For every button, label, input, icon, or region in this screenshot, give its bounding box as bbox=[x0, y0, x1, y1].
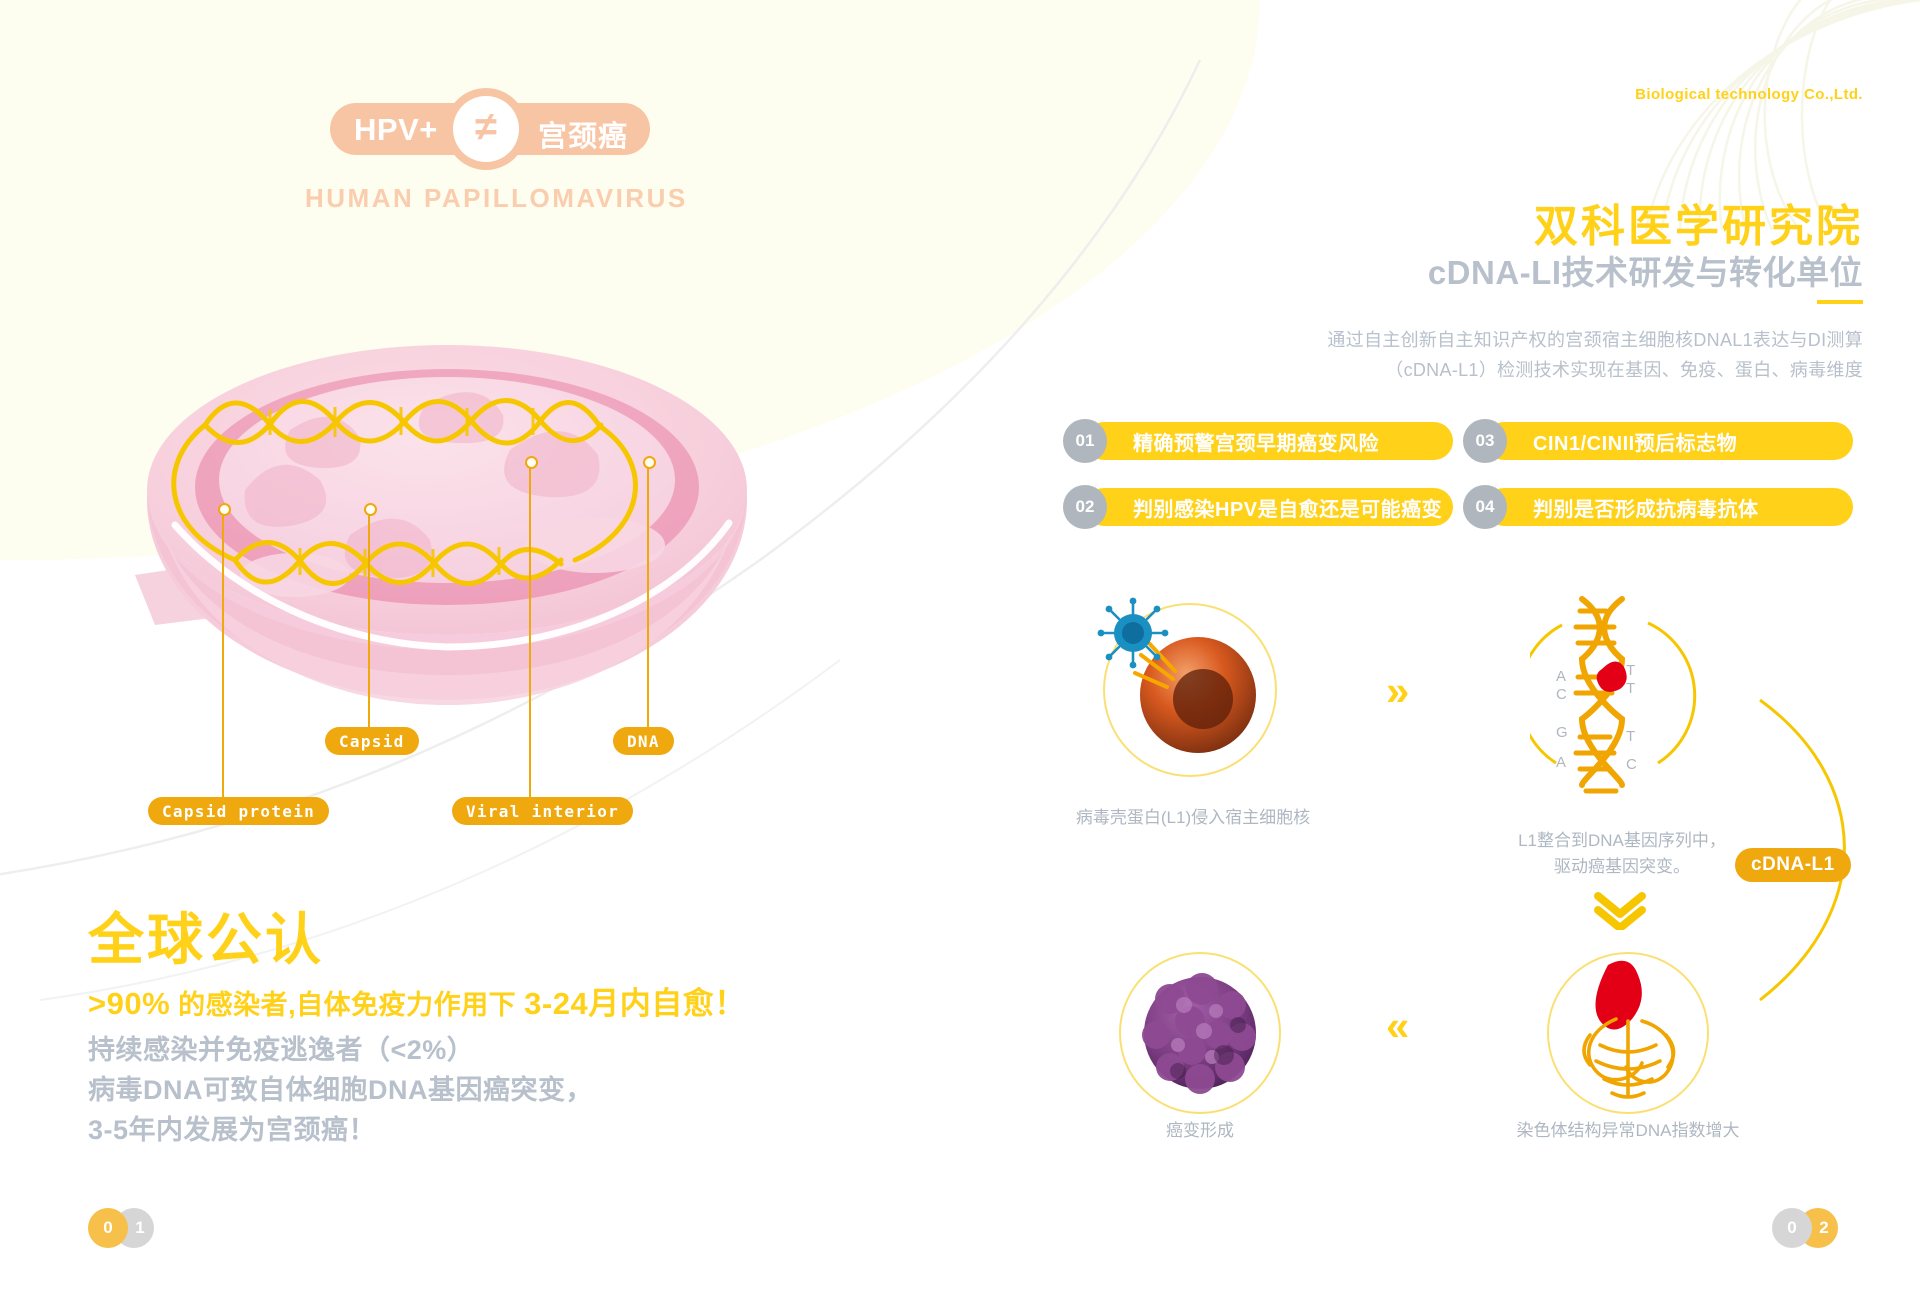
global-recognition-paragraph: 持续感染并免疫逃逸者（<2%） 病毒DNA可致自体细胞DNA基因癌突变， 3-5… bbox=[88, 1030, 593, 1150]
page-number-right-first: 0 bbox=[1772, 1208, 1812, 1248]
dna-base-left-1: C bbox=[1556, 686, 1567, 703]
institute-subtitle: cDNA-LI技术研发与转化单位 bbox=[1428, 246, 1863, 294]
leader-dot-capsid-protein bbox=[218, 503, 231, 516]
description-line-2: （cDNA-L1）检测技术实现在基因、免疫、蛋白、病毒维度 bbox=[1327, 355, 1863, 385]
description-line-1: 通过自主创新自主知识产权的宫颈宿主细胞核DNAL1表达与DI测算 bbox=[1327, 325, 1863, 355]
dna-base-left-3: A bbox=[1556, 754, 1566, 771]
step4-tumor-illustration bbox=[1112, 945, 1287, 1120]
not-equal-icon: ≠ bbox=[445, 88, 527, 170]
page-number-left: 1 0 bbox=[88, 1208, 184, 1248]
paragraph-line-3: 3-5年内发展为宫颈癌！ bbox=[88, 1110, 593, 1150]
leader-line-dna bbox=[647, 465, 649, 727]
step3-chromosome-illustration bbox=[1538, 945, 1718, 1120]
feature-pill-01-label: 精确预警宫颈早期癌变风险 bbox=[1133, 422, 1379, 460]
callout-dna: DNA bbox=[613, 727, 674, 755]
feature-pill-04-number: 04 bbox=[1463, 485, 1507, 529]
global-recognition-title: 全球公认 bbox=[88, 895, 324, 976]
header-subtitle: HUMAN PAPILLOMAVIRUS bbox=[305, 183, 688, 214]
dna-base-left-2: G bbox=[1556, 724, 1568, 741]
dna-base-left-0: A bbox=[1556, 668, 1566, 685]
not-equal-glyph: ≠ bbox=[453, 94, 519, 160]
callout-capsid-protein: Capsid protein bbox=[148, 797, 329, 825]
feature-pill-02[interactable]: 02 判别感染HPV是自愈还是可能癌变 bbox=[1063, 488, 1453, 526]
chevron-down-icon bbox=[1592, 890, 1648, 930]
feature-pill-01-number: 01 bbox=[1063, 419, 1107, 463]
company-name: Biological technology Co.,Ltd. bbox=[1635, 86, 1863, 103]
callout-viral-interior: Viral interior bbox=[452, 797, 633, 825]
step1-cell-invasion-illustration bbox=[1095, 595, 1285, 785]
virus-illustration bbox=[95, 275, 855, 805]
leader-line-capsid bbox=[368, 512, 370, 730]
feature-pill-02-number: 02 bbox=[1063, 485, 1107, 529]
leader-line-capsid-protein bbox=[222, 512, 224, 802]
cdna-l1-badge: cDNA-L1 bbox=[1735, 848, 1851, 882]
paragraph-line-2: 病毒DNA可致自体细胞DNA基因癌突变， bbox=[88, 1070, 593, 1110]
step2-dna-mutation-illustration: A C G A T T T C bbox=[1530, 595, 1715, 795]
feature-pill-03[interactable]: 03 CIN1/CINII预后标志物 bbox=[1463, 422, 1853, 460]
stat-prefix: >90% bbox=[88, 986, 170, 1021]
feature-pill-01[interactable]: 01 精确预警宫颈早期癌变风险 bbox=[1063, 422, 1453, 460]
page-number-right: 0 2 bbox=[1772, 1208, 1868, 1248]
feature-pill-02-label: 判别感染HPV是自愈还是可能癌变 bbox=[1133, 488, 1442, 526]
title-divider bbox=[1817, 300, 1863, 304]
feature-pill-04[interactable]: 04 判别是否形成抗病毒抗体 bbox=[1463, 488, 1853, 526]
callout-capsid: Capsid bbox=[325, 727, 419, 755]
feature-pill-04-label: 判别是否形成抗病毒抗体 bbox=[1533, 488, 1759, 526]
dna-base-right-0: T bbox=[1626, 662, 1635, 679]
leader-line-viral-interior bbox=[529, 465, 531, 797]
stat-suffix: 3-24月内自愈！ bbox=[524, 986, 746, 1021]
dna-base-right-2: T bbox=[1626, 728, 1635, 745]
badge-hpv-label: HPV+ bbox=[354, 112, 438, 148]
badge-cervical-cancer-label: 宫颈癌 bbox=[538, 113, 628, 155]
global-recognition-stat: >90% 的感染者,自体免疫力作用下 3-24月内自愈！ bbox=[88, 978, 746, 1023]
leader-dot-capsid bbox=[364, 503, 377, 516]
not-equal-icon-inner: ≠ bbox=[453, 96, 519, 162]
dna-base-right-3: C bbox=[1626, 756, 1637, 773]
leader-dot-dna bbox=[643, 456, 656, 469]
feature-pill-03-label: CIN1/CINII预后标志物 bbox=[1533, 422, 1737, 460]
institute-title: 双科医学研究院 bbox=[1534, 190, 1863, 254]
feature-pill-03-number: 03 bbox=[1463, 419, 1507, 463]
institute-description: 通过自主创新自主知识产权的宫颈宿主细胞核DNAL1表达与DI测算 （cDNA-L… bbox=[1327, 325, 1863, 385]
stat-mid: 的感染者,自体免疫力作用下 bbox=[170, 990, 524, 1020]
paragraph-line-1: 持续感染并免疫逃逸者（<2%） bbox=[88, 1030, 593, 1070]
leader-dot-viral-interior bbox=[525, 456, 538, 469]
dna-base-right-1: T bbox=[1626, 680, 1635, 697]
page-number-left-first: 0 bbox=[88, 1208, 128, 1248]
poster-page: HPV+ 宫颈癌 ≠ HUMAN PAPILLOMAVIRUS Biologic… bbox=[0, 0, 1920, 1303]
